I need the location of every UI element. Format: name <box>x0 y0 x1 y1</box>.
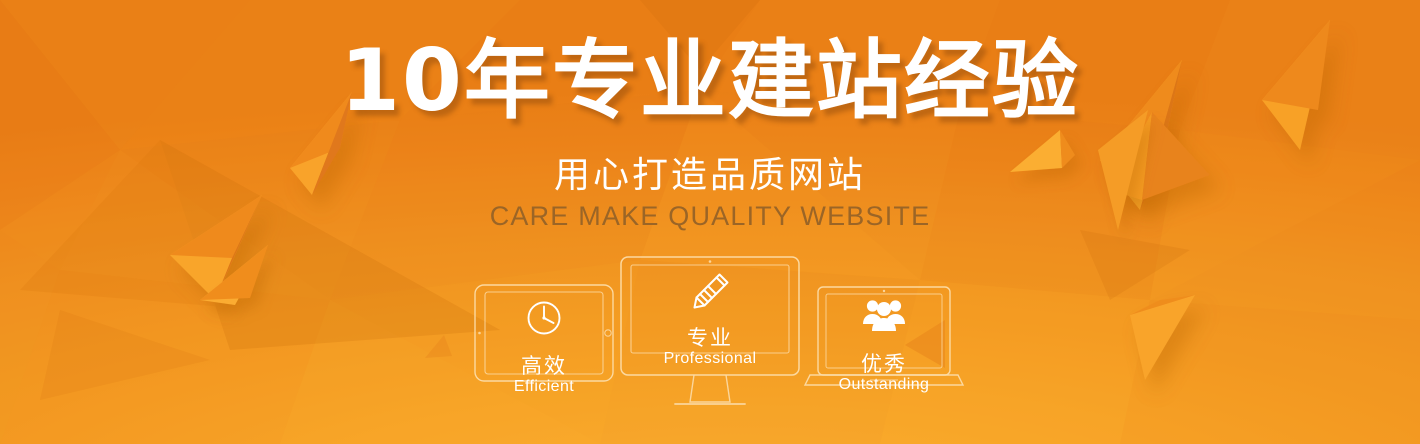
tablet-outline-icon <box>474 284 614 382</box>
laptop-outline-icon <box>804 286 964 392</box>
subtitle-chinese: 用心打造品质网站 <box>0 155 1420 196</box>
feature-card-outstanding[interactable]: 优秀 Outstanding <box>804 286 964 392</box>
monitor-outline-icon <box>620 256 800 408</box>
promo-banner: 10年专业建站经验 用心打造品质网站 CARE MAKE QUALITY WEB… <box>0 0 1420 444</box>
feature-card-efficient[interactable]: 高效 Efficient <box>474 284 614 382</box>
page-title: 10年专业建站经验 <box>0 38 1420 124</box>
feature-card-professional[interactable]: 专业 Professional <box>620 256 800 408</box>
feature-device-group: 高效 Efficient <box>0 248 1420 428</box>
subtitle-english: CARE MAKE QUALITY WEBSITE <box>0 201 1420 232</box>
